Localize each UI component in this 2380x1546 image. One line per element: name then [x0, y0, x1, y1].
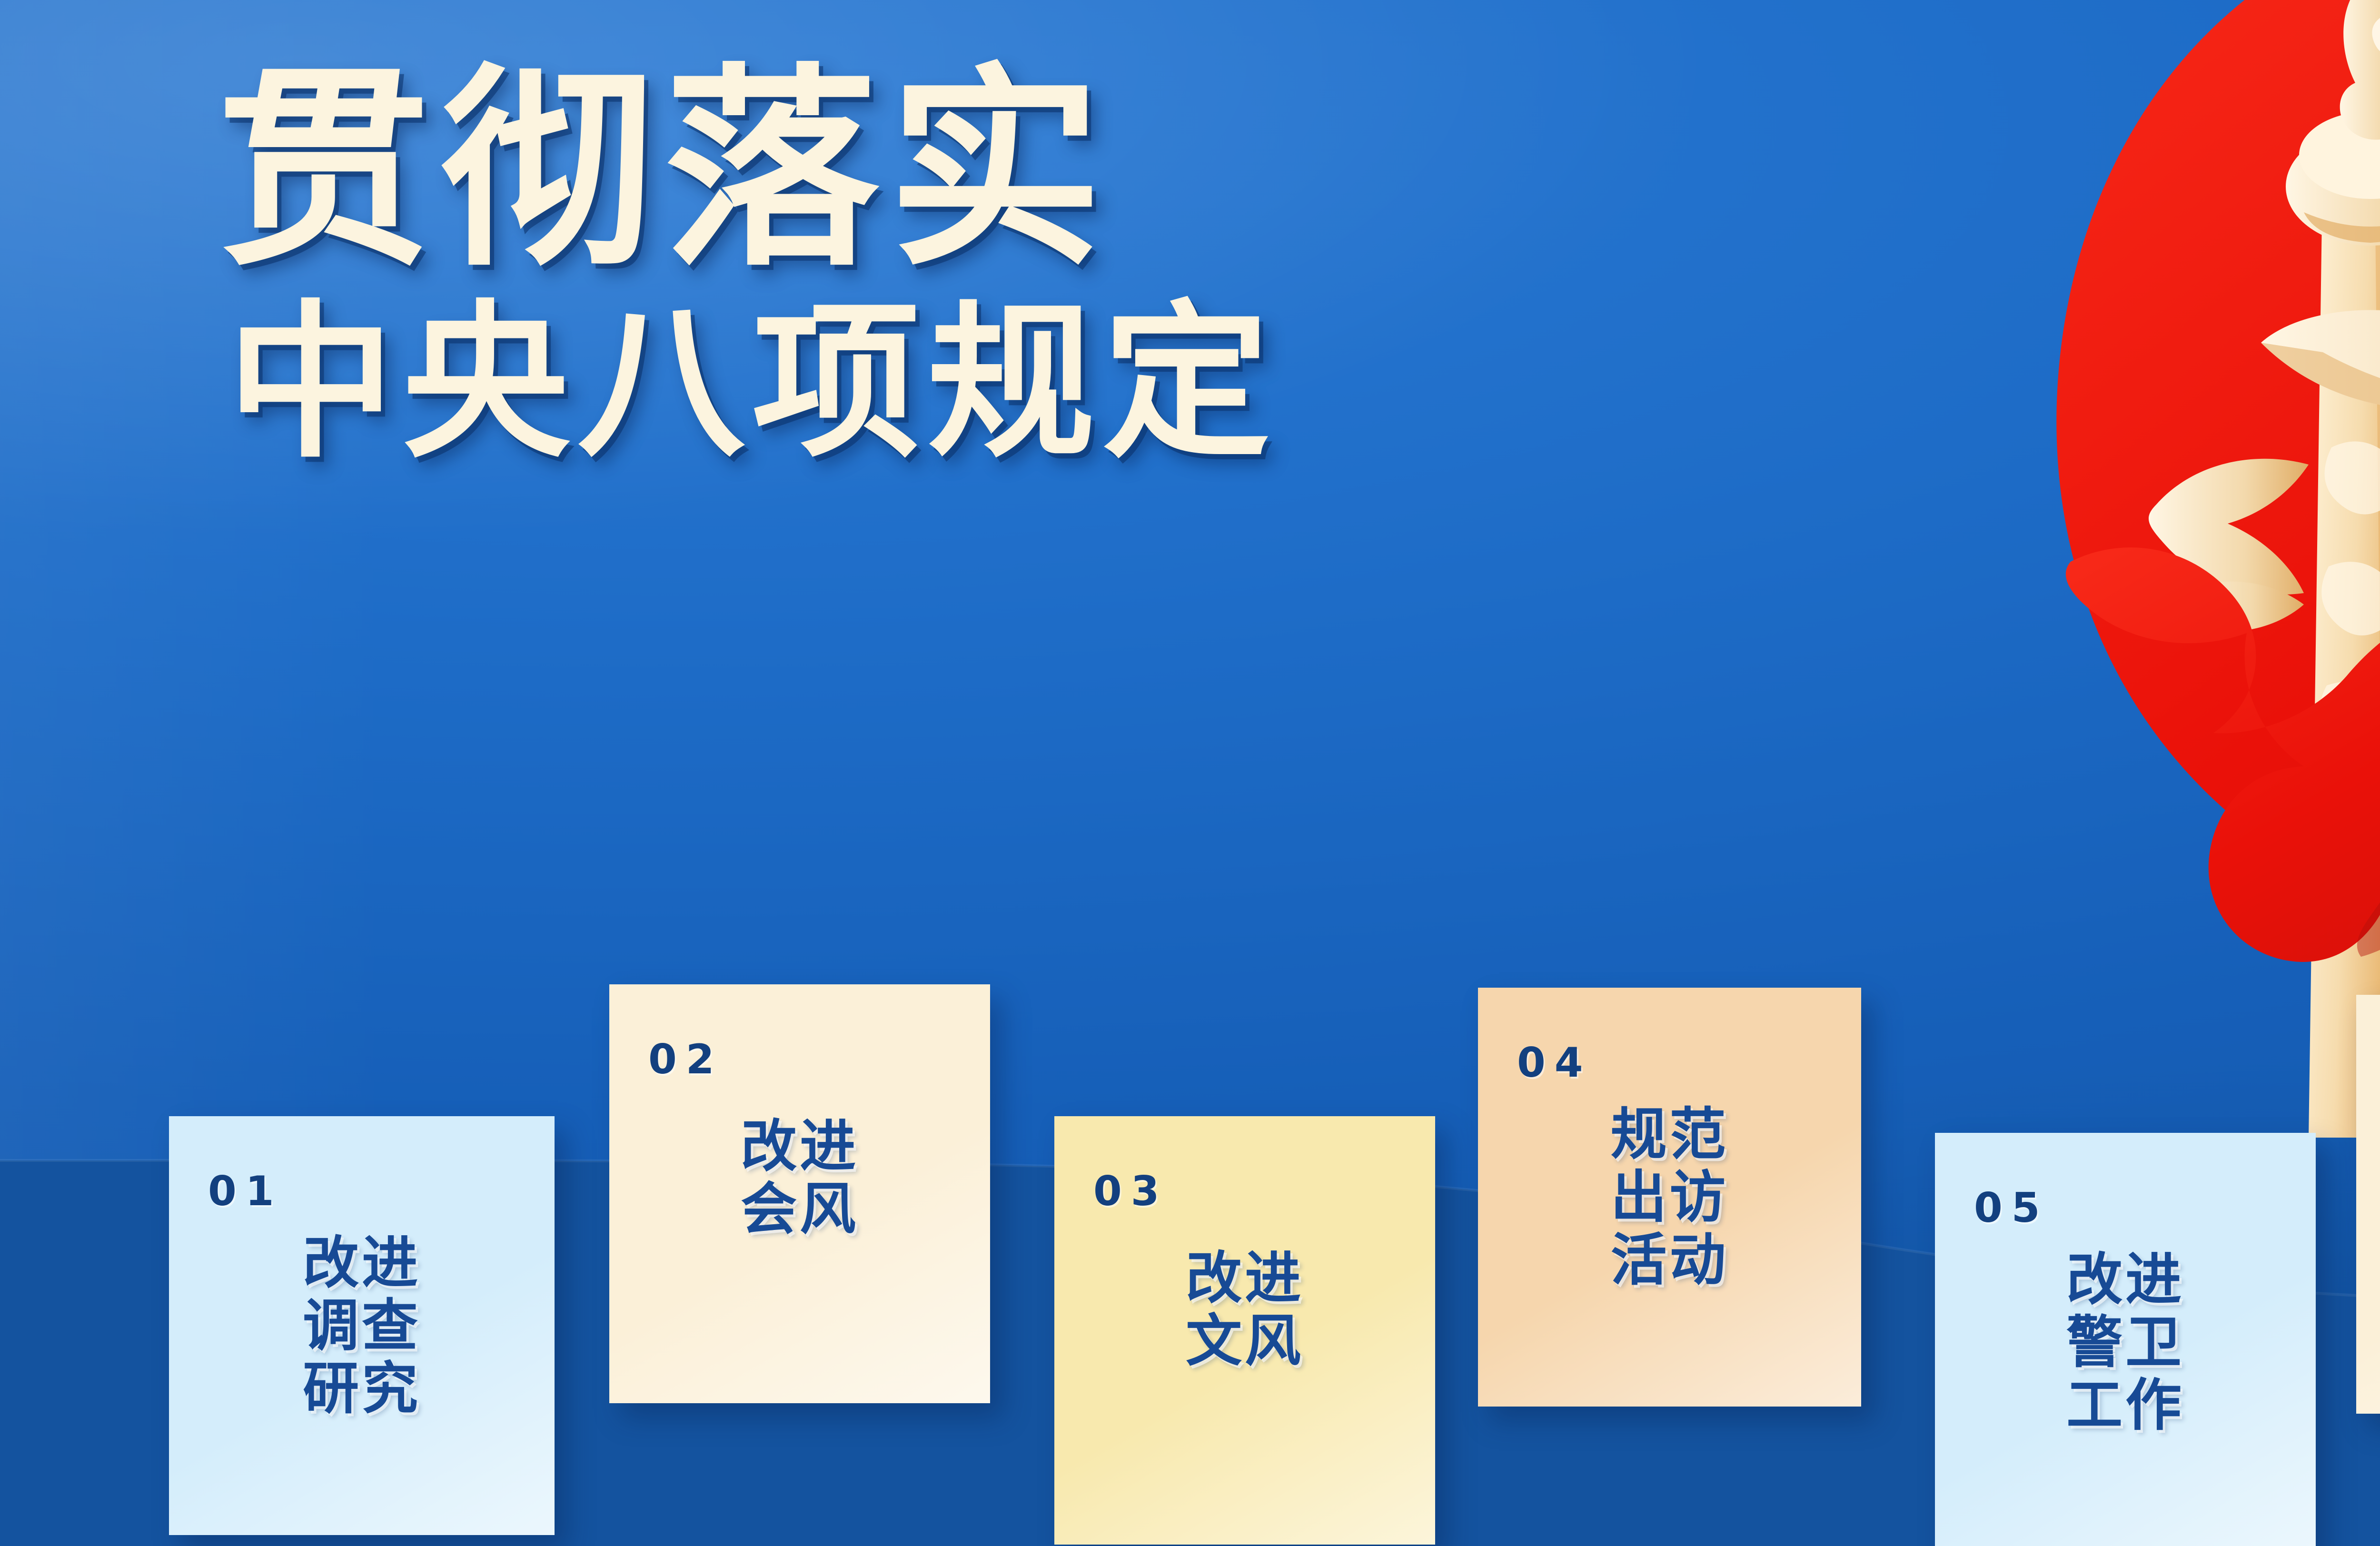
card-label-line: 工作 [2066, 1374, 2184, 1437]
card-label-02: 改进会风 [609, 1115, 990, 1240]
card-number-04: 04 [1517, 1039, 1861, 1087]
measure-card-03[interactable]: 03改进文风 [1054, 1116, 1435, 1545]
title-line-1: 贯彻落实 [217, 67, 1883, 275]
card-label-line: 活动 [1611, 1229, 1729, 1291]
card-label-line: 出访 [1611, 1166, 1729, 1229]
card-label-line: 规范 [1611, 1103, 1729, 1166]
card-label-line: 警卫 [2066, 1311, 2184, 1374]
card-label-03: 改进文风 [1054, 1247, 1435, 1372]
card-label-line: 调查 [303, 1294, 421, 1357]
measure-card-06[interactable]: 06改进新闻报道 [2356, 995, 2380, 1414]
measure-card-04[interactable]: 04规范出访活动 [1478, 988, 1861, 1407]
card-label-line: 研究 [303, 1357, 421, 1420]
card-label-line: 改进 [303, 1231, 421, 1294]
measure-card-01[interactable]: 01改进调查研究 [169, 1116, 555, 1535]
card-number-01: 01 [208, 1168, 555, 1215]
card-label-06: 改进新闻报道 [2356, 1110, 2380, 1298]
card-number-02: 02 [648, 1036, 990, 1083]
card-label-line: 改进 [741, 1115, 859, 1178]
card-label-line: 改进 [2066, 1248, 2184, 1311]
measure-card-05[interactable]: 05改进警卫工作 [1935, 1133, 2316, 1546]
ribbon-and-pillar-artwork [1928, 0, 2380, 1138]
card-label-line: 改进 [1186, 1247, 1304, 1309]
card-label-04: 规范出访活动 [1478, 1103, 1861, 1291]
card-label-line: 文风 [1186, 1309, 1304, 1372]
card-number-03: 03 [1093, 1168, 1435, 1215]
card-label-05: 改进警卫工作 [1935, 1248, 2316, 1437]
card-number-05: 05 [1974, 1184, 2316, 1232]
title-line-2: 中央八项规定 [227, 302, 1883, 465]
poster-canvas: 贯彻落实 中央八项规定 01改进调查研究02改进会风03改进文风04规范出访活动… [0, 0, 2380, 1546]
card-label-line: 会风 [741, 1178, 859, 1240]
card-label-01: 改进调查研究 [169, 1231, 555, 1420]
poster-title: 贯彻落实 中央八项规定 [217, 67, 1883, 465]
measure-card-02[interactable]: 02改进会风 [609, 984, 990, 1403]
